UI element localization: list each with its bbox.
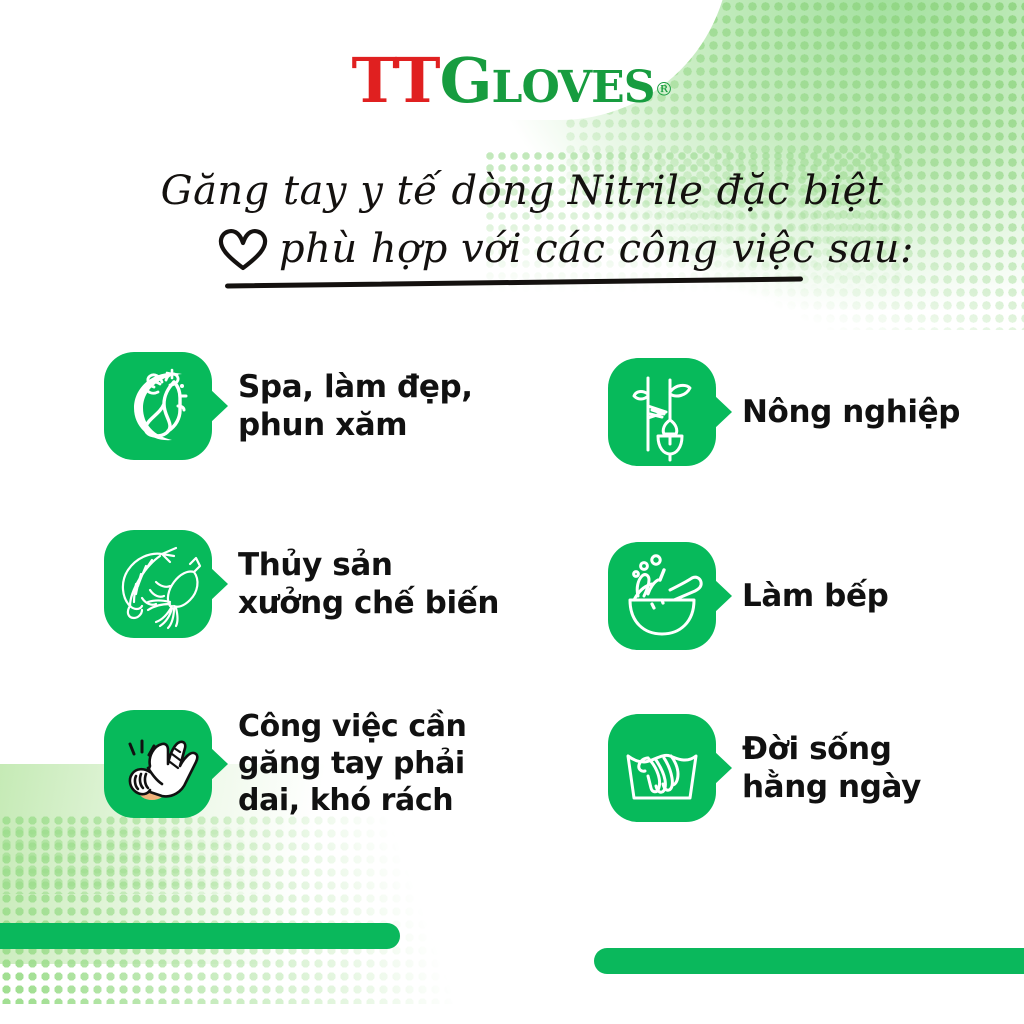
registered-trademark-icon: ® bbox=[654, 79, 672, 101]
label-line: Làm bếp bbox=[742, 577, 888, 615]
headline-line-2: phù hợp với các công việc sau: bbox=[279, 226, 914, 272]
bottom-left-accent-bar bbox=[0, 923, 400, 949]
spa-woman-face-icon bbox=[104, 352, 212, 460]
label-line: Nông nghiệp bbox=[742, 393, 960, 431]
label-line: găng tay phải bbox=[238, 745, 467, 782]
heart-outline-icon bbox=[217, 226, 269, 272]
benefit-label-daily-life: Đời sống hằng ngày bbox=[742, 730, 921, 807]
label-line: Thủy sản bbox=[238, 546, 499, 584]
poster-canvas: TTGLOVES® Găng tay y tế dòng Nitrile đặc… bbox=[0, 0, 1024, 1024]
headline-block: Găng tay y tế dòng Nitrile đặc biệt phù … bbox=[0, 168, 1024, 272]
benefit-label-seafood: Thủy sản xưởng chế biến bbox=[238, 546, 499, 623]
benefit-item-durable-glove[interactable]: Công việc cần găng tay phải dai, khó rác… bbox=[104, 708, 467, 820]
benefit-label-spa: Spa, làm đẹp, phun xăm bbox=[238, 368, 473, 445]
benefit-item-cooking[interactable]: Làm bếp bbox=[608, 542, 888, 650]
label-line: Đời sống bbox=[742, 730, 921, 768]
benefit-label-durable-glove: Công việc cần găng tay phải dai, khó rác… bbox=[238, 708, 467, 820]
label-line: hằng ngày bbox=[742, 768, 921, 806]
brand-logo: TTGLOVES® bbox=[0, 44, 1024, 117]
benefits-column-right: Nông nghiệp bbox=[512, 352, 1024, 872]
glove-durable-hand-icon bbox=[104, 710, 212, 818]
agriculture-shovel-plant-icon bbox=[608, 358, 716, 466]
benefit-item-spa[interactable]: Spa, làm đẹp, phun xăm bbox=[104, 352, 473, 460]
cooking-wok-pan-icon bbox=[608, 542, 716, 650]
headline-line-1: Găng tay y tế dòng Nitrile đặc biệt bbox=[0, 168, 1024, 214]
label-line: Spa, làm đẹp, bbox=[238, 368, 473, 406]
benefit-label-agriculture: Nông nghiệp bbox=[742, 393, 960, 431]
logo-loves-mark: LOVES bbox=[492, 62, 655, 113]
brand-logo-text: TTGLOVES® bbox=[352, 44, 673, 117]
bottom-right-accent-bar bbox=[594, 948, 1024, 974]
handwash-basin-icon bbox=[608, 714, 716, 822]
label-line: dai, khó rách bbox=[238, 782, 467, 819]
headline-underline-stroke bbox=[225, 276, 803, 288]
benefits-grid: Spa, làm đẹp, phun xăm bbox=[0, 352, 1024, 872]
label-line: phun xăm bbox=[238, 406, 473, 444]
benefit-item-daily-life[interactable]: Đời sống hằng ngày bbox=[608, 714, 921, 822]
benefit-item-agriculture[interactable]: Nông nghiệp bbox=[608, 358, 960, 466]
label-line: xưởng chế biến bbox=[238, 584, 499, 622]
benefit-item-seafood[interactable]: Thủy sản xưởng chế biến bbox=[104, 530, 499, 638]
label-line: Công việc cần bbox=[238, 708, 467, 745]
seafood-shrimp-squid-icon bbox=[104, 530, 212, 638]
logo-ttg-mark: TT bbox=[352, 44, 440, 117]
headline-line-2-row: phù hợp với các công việc sau: bbox=[207, 226, 817, 272]
benefit-label-cooking: Làm bếp bbox=[742, 577, 888, 615]
benefits-column-left: Spa, làm đẹp, phun xăm bbox=[0, 352, 512, 872]
logo-g-mark: G bbox=[440, 44, 492, 117]
